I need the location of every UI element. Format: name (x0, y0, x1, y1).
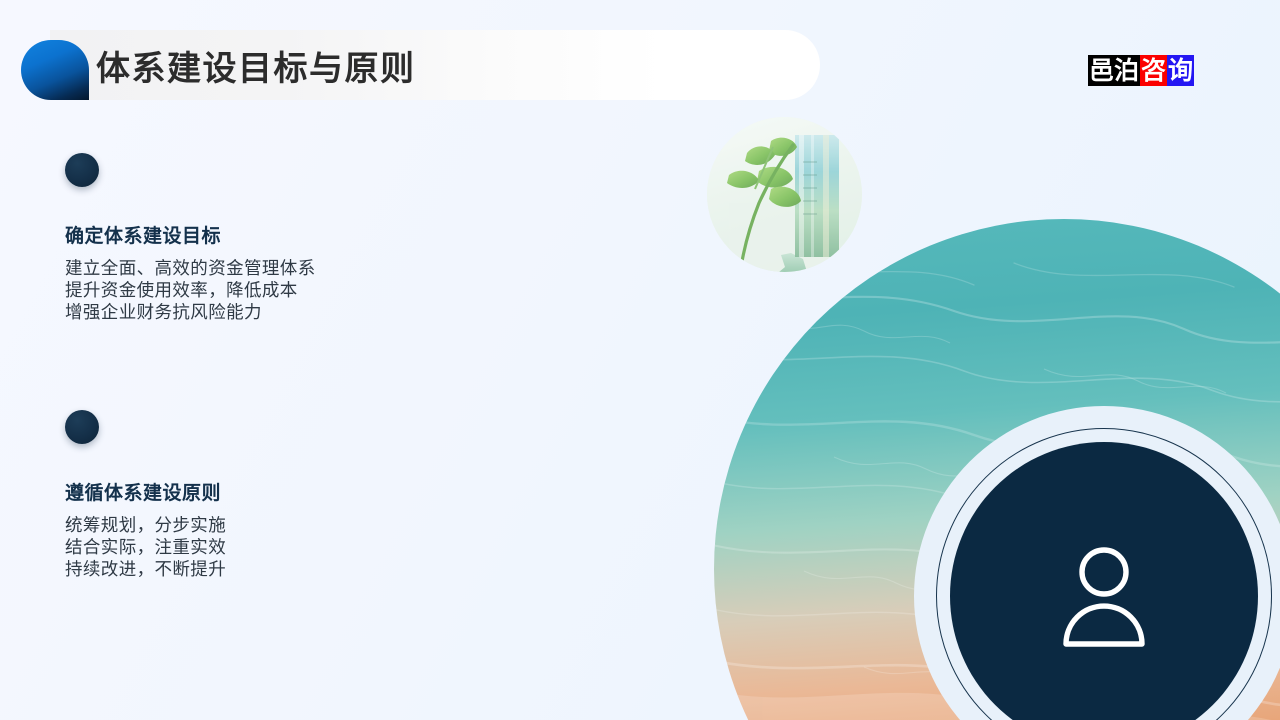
block-line: 结合实际，注重实效 (65, 536, 495, 558)
block-line: 建立全面、高效的资金管理体系 (65, 257, 495, 279)
block-line: 提升资金使用效率，降低成本 (65, 279, 495, 301)
block-line: 增强企业财务抗风险能力 (65, 301, 495, 323)
brand-logo: 邑泊 咨 询 (1088, 55, 1194, 86)
brand-logo-part-2: 咨 (1140, 55, 1167, 86)
filled-circle-bullet-icon (65, 153, 99, 187)
brand-logo-part-1: 邑泊 (1088, 55, 1140, 86)
content-block: 遵循体系建设原则 统筹规划，分步实施 结合实际，注重实效 持续改进，不断提升 (65, 410, 495, 580)
block-lines: 建立全面、高效的资金管理体系 提升资金使用效率，降低成本 增强企业财务抗风险能力 (65, 257, 495, 323)
block-title: 确定体系建设目标 (65, 221, 495, 248)
slide-canvas: 体系建设目标与原则 邑泊 咨 询 确定体系建设目标 建立全面、高效的资金管理体系… (0, 0, 1280, 720)
brand-logo-part-3: 询 (1167, 55, 1194, 86)
rounded-square-badge-icon (21, 40, 89, 100)
filled-circle-bullet-icon (65, 410, 99, 444)
person-avatar-icon (1058, 544, 1150, 648)
block-line: 持续改进，不断提升 (65, 558, 495, 580)
block-line: 统筹规划，分步实施 (65, 514, 495, 536)
page-title: 体系建设目标与原则 (96, 30, 416, 100)
slide-header: 体系建设目标与原则 (0, 30, 820, 100)
content-block: 确定体系建设目标 建立全面、高效的资金管理体系 提升资金使用效率，降低成本 增强… (65, 153, 495, 323)
block-lines: 统筹规划，分步实施 结合实际，注重实效 持续改进，不断提升 (65, 514, 495, 580)
block-title: 遵循体系建设原则 (65, 478, 495, 505)
